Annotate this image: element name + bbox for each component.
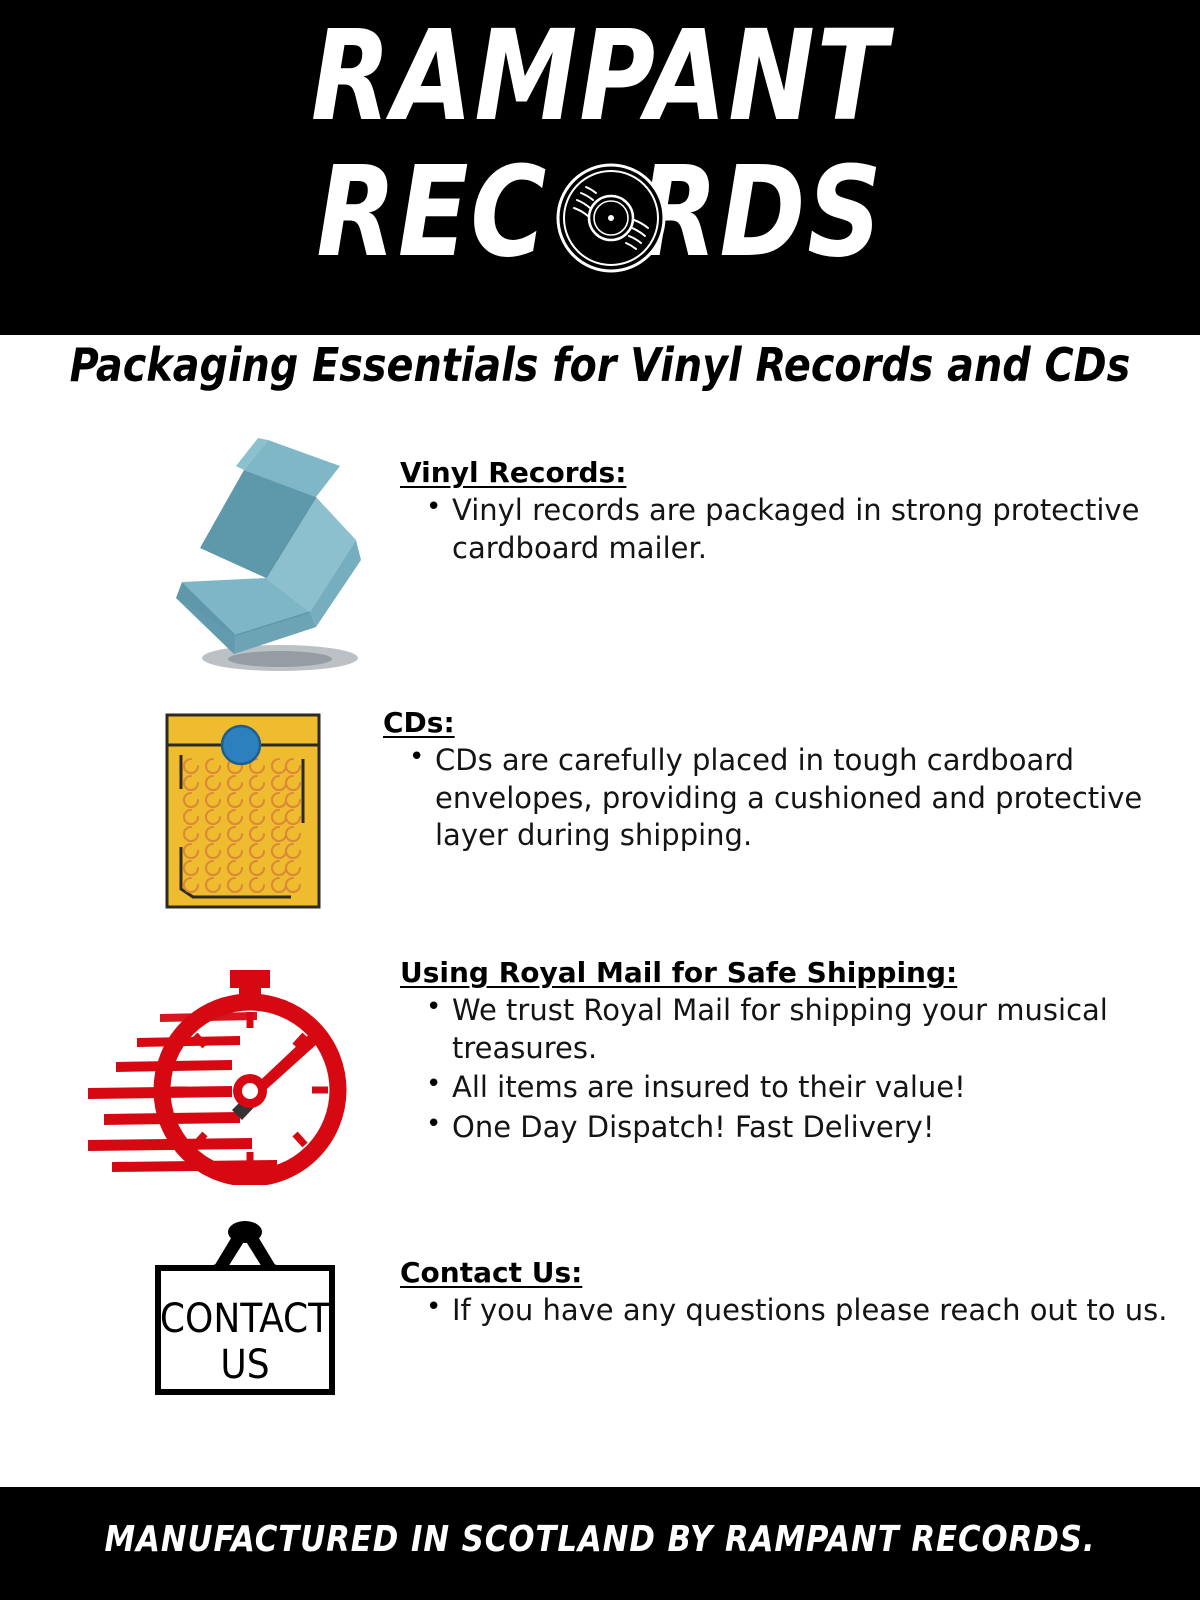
padded-bubble-envelope-icon [163, 711, 323, 911]
heading-royal-mail: Using Royal Mail for Safe Shipping: [400, 955, 1190, 990]
vinyl-record-icon [556, 163, 666, 273]
section-text-vinyl-records: Vinyl Records: Vinyl records are package… [400, 455, 1190, 569]
contact-us-hanging-sign-icon: CONTACT US [150, 1220, 340, 1395]
section-text-contact-us: Contact Us: If you have any questions pl… [400, 1255, 1190, 1332]
cardboard-mailer-box-icon [140, 430, 390, 685]
heading-contact-us: Contact Us: [400, 1255, 1190, 1290]
section-text-royal-mail: Using Royal Mail for Safe Shipping: We t… [400, 955, 1190, 1149]
page-title: Packaging Essentials for Vinyl Records a… [24, 340, 1176, 391]
sign-label-line-2: US [220, 1342, 269, 1388]
poster-page: RAMPANT RECORDS Packaging Essentials for… [0, 0, 1200, 1600]
brand-name-line-1: RAMPANT [48, 14, 1152, 139]
envelope-seal-icon [222, 726, 260, 764]
brand-name-line-2-before: REC [316, 140, 548, 285]
footer-banner: MANUFACTURED IN SCOTLAND BY RAMPANT RECO… [0, 1487, 1200, 1600]
list-item: If you have any questions please reach o… [452, 1292, 1190, 1330]
section-text-cds: CDs: CDs are carefully placed in tough c… [383, 705, 1173, 857]
bullet-list-vinyl-records: Vinyl records are packaged in strong pro… [400, 492, 1190, 567]
list-item: CDs are carefully placed in tough cardbo… [435, 742, 1173, 855]
footer-text: MANUFACTURED IN SCOTLAND BY RAMPANT RECO… [30, 1519, 1170, 1560]
header-banner: RAMPANT RECORDS [0, 0, 1200, 335]
bullet-list-royal-mail: We trust Royal Mail for shipping your mu… [400, 992, 1190, 1147]
brand-name-line-2-after: RDS [638, 140, 884, 285]
heading-vinyl-records: Vinyl Records: [400, 455, 1190, 490]
list-item: Vinyl records are packaged in strong pro… [452, 492, 1190, 567]
fast-stopwatch-icon [82, 950, 347, 1185]
heading-cds: CDs: [383, 705, 1173, 740]
list-item: One Day Dispatch! Fast Delivery! [452, 1109, 1190, 1147]
bullet-list-contact-us: If you have any questions please reach o… [400, 1292, 1190, 1330]
list-item: We trust Royal Mail for shipping your mu… [452, 992, 1190, 1067]
list-item: All items are insured to their value! [452, 1069, 1190, 1107]
sign-label-line-1: CONTACT [160, 1296, 331, 1342]
bullet-list-cds: CDs are carefully placed in tough cardbo… [383, 742, 1173, 855]
